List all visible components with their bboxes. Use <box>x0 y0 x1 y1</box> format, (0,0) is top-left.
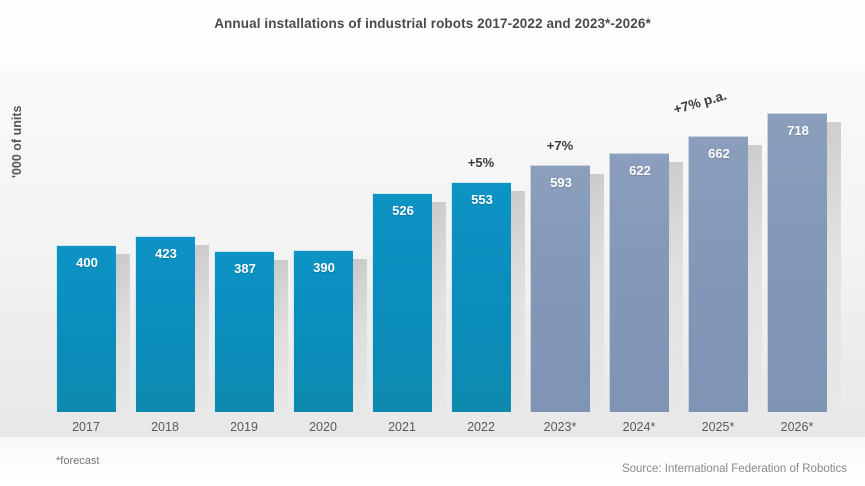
bar-group: 423 <box>135 236 195 412</box>
x-axis-label-2020: 2020 <box>293 420 353 434</box>
bar-group: 400 <box>56 245 116 412</box>
bar-value-label: 553 <box>452 192 512 207</box>
bar-2017[interactable]: 400 <box>56 245 116 412</box>
bar-group: 662 <box>688 136 748 412</box>
bar-group: 526 <box>372 193 432 412</box>
bar-group: 622 <box>609 153 669 412</box>
bar-2025-forecast[interactable]: 662 <box>688 136 748 412</box>
x-axis-label-2025-forecast: 2025* <box>688 420 748 434</box>
x-axis-label-2018: 2018 <box>135 420 195 434</box>
bar-value-label: 423 <box>136 246 196 261</box>
x-axis-label-2021: 2021 <box>372 420 432 434</box>
chart-container: Annual installations of industrial robot… <box>0 0 865 486</box>
x-axis-label-2022: 2022 <box>451 420 511 434</box>
bar-2019[interactable]: 387 <box>214 251 274 412</box>
bar-value-label: 390 <box>294 260 354 275</box>
bar-2023-forecast[interactable]: 593 <box>530 165 590 412</box>
plot-area: 40020174232018387201939020205262021553+5… <box>0 0 865 486</box>
growth-annotation-2023-forecast: +7% <box>530 138 590 153</box>
bar-group: 553 <box>451 182 511 412</box>
bar-value-label: 593 <box>531 175 591 190</box>
bar-value-label: 662 <box>689 146 749 161</box>
bar-group: 718 <box>767 113 827 412</box>
bar-group: 390 <box>293 250 353 412</box>
bar-value-label: 400 <box>57 255 117 270</box>
footnote-forecast: *forecast <box>56 455 99 467</box>
x-axis-label-2019: 2019 <box>214 420 274 434</box>
bar-value-label: 387 <box>215 261 275 276</box>
bar-group: 593 <box>530 165 590 412</box>
x-axis-label-2026-forecast: 2026* <box>767 420 827 434</box>
x-axis-label-2017: 2017 <box>56 420 116 434</box>
bar-value-label: 718 <box>768 123 828 138</box>
bar-value-label: 622 <box>610 163 670 178</box>
footnote-source: Source: International Federation of Robo… <box>622 463 847 475</box>
bar-2018[interactable]: 423 <box>135 236 195 412</box>
x-axis-label-2024-forecast: 2024* <box>609 420 669 434</box>
growth-annotation-2022: +5% <box>451 155 511 170</box>
bar-2026-forecast[interactable]: 718 <box>767 113 827 412</box>
bar-group: 387 <box>214 251 274 412</box>
bar-2022[interactable]: 553 <box>451 182 511 412</box>
growth-annotation-per-annum: +7% p.a. <box>672 88 728 117</box>
bar-2021[interactable]: 526 <box>372 193 432 412</box>
bar-2024-forecast[interactable]: 622 <box>609 153 669 412</box>
bar-value-label: 526 <box>373 203 433 218</box>
bar-2020[interactable]: 390 <box>293 250 353 412</box>
x-axis-label-2023-forecast: 2023* <box>530 420 590 434</box>
